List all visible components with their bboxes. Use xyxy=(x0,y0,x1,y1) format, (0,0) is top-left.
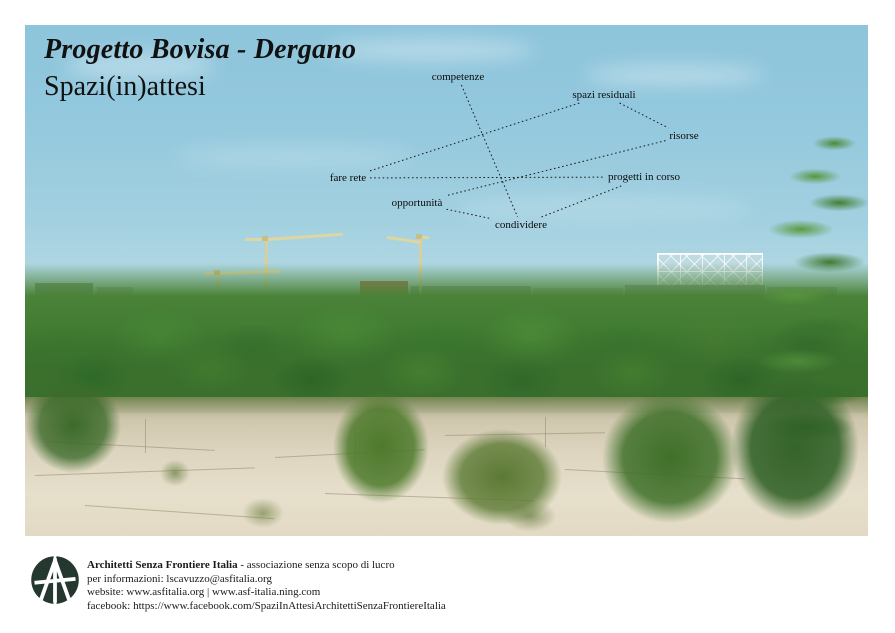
ground-weed xyxy=(235,493,291,533)
poster-title: Progetto Bovisa - Dergano Spazi(in)attes… xyxy=(44,36,356,101)
ground-weed xyxy=(495,495,565,536)
footer: Architetti Senza Frontiere Italia - asso… xyxy=(28,551,868,613)
ailanthus-tree xyxy=(748,117,868,447)
footer-text-block: Architetti Senza Frontiere Italia - asso… xyxy=(87,559,446,613)
footer-line-contact: per informazioni: lscavuzzo@asfitalia.or… xyxy=(87,573,446,587)
footer-org-tagline: - associazione senza scopo di lucro xyxy=(238,559,395,571)
cloud-wisp xyxy=(455,195,755,221)
asf-italia-logo-icon xyxy=(28,553,82,607)
title-line-2: Spazi(in)attesi xyxy=(44,73,356,101)
cloud-wisp xyxy=(175,145,415,169)
footer-line-org: Architetti Senza Frontiere Italia - asso… xyxy=(87,559,446,573)
cloud-wisp xyxy=(325,39,535,61)
ground-weed xyxy=(155,455,195,491)
title-line-1: Progetto Bovisa - Dergano xyxy=(44,36,356,64)
footer-line-facebook: facebook: https://www.facebook.com/Spazi… xyxy=(87,600,446,614)
footer-line-website: website: www.asfitalia.org | www.asf-ita… xyxy=(87,586,446,600)
footer-org-name: Architetti Senza Frontiere Italia xyxy=(87,559,238,571)
cloud-wisp xyxy=(585,65,765,85)
poster-page: Progetto Bovisa - Dergano Spazi(in)attes… xyxy=(0,0,895,633)
